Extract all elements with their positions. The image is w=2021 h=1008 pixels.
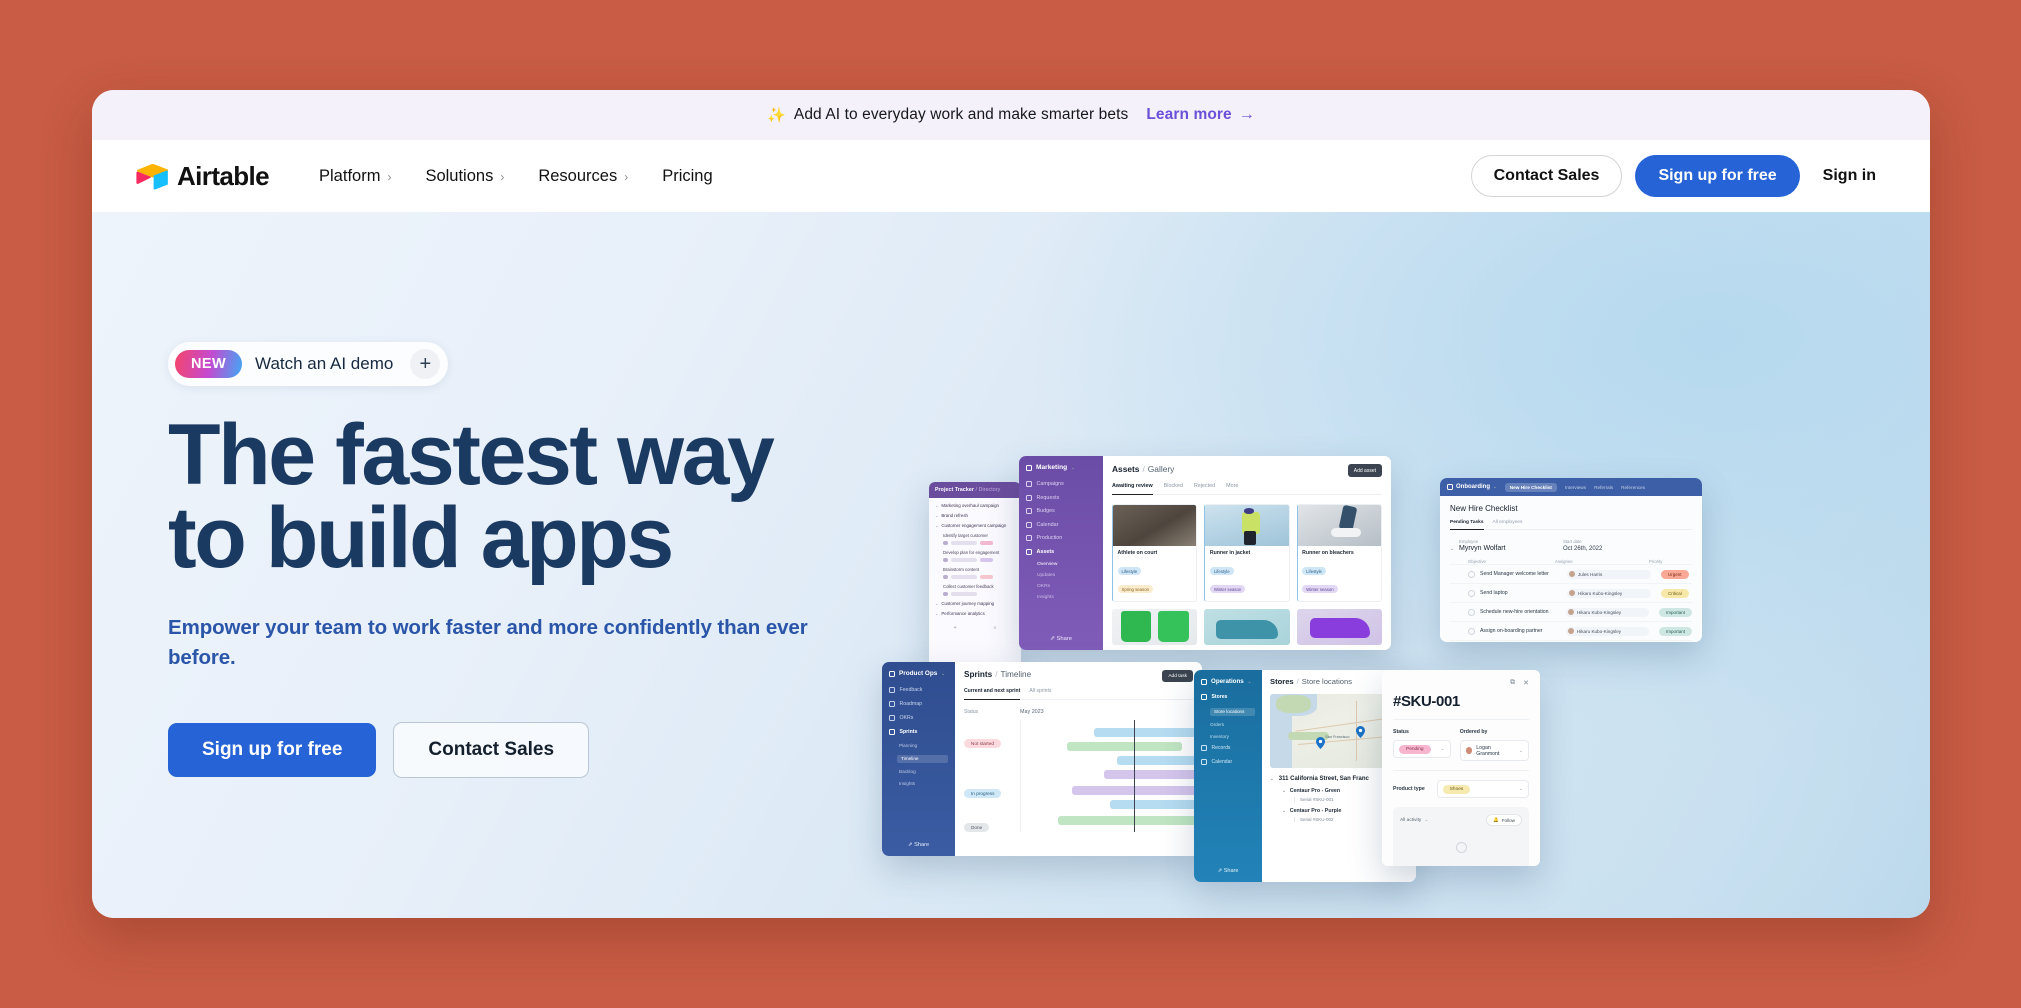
chevron-down-icon: ⌄ — [935, 611, 938, 616]
hero-content: NEW Watch an AI demo + The fastest way t… — [168, 342, 868, 778]
chevron-down-icon: ⌄ — [1441, 746, 1445, 752]
close-icon[interactable]: ✕ — [1523, 679, 1529, 687]
breadcrumb-child: Store locations — [1302, 677, 1352, 686]
marketing-assets-card[interactable]: Marketing⌄ Campaigns Requests Budges Cal… — [1019, 456, 1391, 650]
sidebar-item-calendar[interactable]: Calendar — [1201, 759, 1255, 765]
checkbox[interactable] — [1468, 628, 1475, 635]
onboarding-employee-row[interactable]: ⌄ Myrvyn Wolfart Oct 26th, 2022 — [1450, 545, 1692, 552]
sidebar-subitem-store-locations[interactable]: Store locations — [1210, 708, 1255, 716]
avatar — [1569, 590, 1575, 596]
store-address: 311 California Street, San Franc — [1279, 776, 1369, 782]
chevron-down-icon: ⌄ — [1071, 465, 1075, 471]
product-ops-sidebar: Product Ops⌄ Feedback Roadmap OKRs Sprin… — [882, 662, 955, 856]
task-name: Send laptop — [1480, 590, 1567, 596]
employee-name: Myrvyn Wolfart — [1459, 545, 1563, 552]
operations-app-title[interactable]: Operations⌄ — [1201, 678, 1255, 685]
add-task-button[interactable]: Add task — [1162, 670, 1193, 682]
gantt-bars — [1020, 720, 1193, 832]
avatar — [1466, 747, 1473, 754]
sidebar-subitem-insights[interactable]: Insights — [899, 781, 948, 786]
sidebar-item-label: Assets — [1037, 549, 1055, 555]
tab-references[interactable]: References — [1621, 485, 1645, 490]
page-title: The fastest way to build apps — [168, 414, 868, 581]
nav-item-resources[interactable]: Resources › — [538, 167, 628, 186]
column-header-start-date: Start date — [1563, 539, 1649, 544]
status-badge: Pending — [1399, 745, 1431, 754]
roadmap-icon — [889, 701, 895, 707]
hero-section: NEW Watch an AI demo + The fastest way t… — [92, 212, 1930, 918]
headline-line-1: The fastest way — [168, 407, 772, 503]
product-screenshot-collage: Project Tracker / Directory ⌄Marketing o… — [882, 272, 1930, 912]
table-row[interactable]: Send Manager welcome letterJules HarrisU… — [1450, 564, 1692, 583]
sidebar-item-label: Requests — [1037, 495, 1060, 501]
sidebar-item-label: Sprints — [900, 729, 918, 735]
column-header-assignee: Assignee — [1555, 559, 1649, 564]
gantt-bar[interactable] — [1094, 728, 1202, 737]
records-icon — [1201, 745, 1207, 751]
tracker-subrow-label: Develop plan for engagement — [943, 550, 1015, 555]
share-label: Share — [914, 842, 929, 848]
operations-app-name: Operations — [1211, 678, 1244, 685]
product-ops-app-title[interactable]: Product Ops⌄ — [889, 670, 948, 677]
nav-item-pricing-label: Pricing — [662, 167, 712, 186]
sidebar-item-label: Campaigns — [1037, 481, 1064, 487]
sidebar-item-campaigns[interactable]: Campaigns — [1026, 481, 1096, 487]
avatar — [943, 575, 948, 580]
sidebar-item-label: Calendar — [1212, 759, 1233, 765]
chevron-down-icon[interactable]: ⌄ — [1282, 808, 1286, 814]
search-icon[interactable]: ⌕ — [994, 625, 997, 631]
tracker-subrow-label: Collect customer feedback — [943, 584, 1015, 589]
activity-toolbar: All activity⌄ 🔔Follow — [1400, 814, 1522, 826]
sidebar-subitem-backlog[interactable]: Backlog — [899, 769, 948, 774]
nav-item-platform[interactable]: Platform › — [319, 167, 391, 186]
hero-contact-sales-button[interactable]: Contact Sales — [393, 722, 589, 778]
status-select[interactable]: Pending ⌄ — [1393, 740, 1451, 758]
gantt-bar[interactable] — [1104, 770, 1202, 779]
app-icon — [889, 671, 895, 677]
product-ops-tabs: Current and next sprint All sprints — [964, 688, 1193, 700]
asset-thumbnail — [1298, 505, 1381, 546]
calendar-icon — [1026, 522, 1032, 528]
new-badge: NEW — [175, 350, 242, 378]
watch-ai-demo-pill[interactable]: NEW Watch an AI demo + — [168, 342, 448, 386]
operations-sidebar: Operations⌄ Stores Store locations Order… — [1194, 670, 1262, 882]
asset-thumbnail[interactable] — [1204, 609, 1289, 645]
sidebar-item-okrs[interactable]: OKRs — [889, 715, 948, 721]
assets-icon — [1026, 549, 1032, 555]
chevron-down-icon: ⌄ — [1424, 817, 1428, 823]
sidebar-subitem-timeline[interactable]: Timeline — [897, 755, 948, 763]
asset-tag: Winter season — [1210, 585, 1245, 593]
project-tracker-body: ⌄Marketing overhaul campaign ⌄Brand refr… — [929, 498, 1021, 676]
sidebar-item-label: Stores — [1212, 694, 1228, 700]
nav-actions: Contact Sales Sign up for free Sign in — [1471, 155, 1886, 197]
tab-referrals[interactable]: Referrals — [1594, 485, 1613, 490]
nav-item-pricing[interactable]: Pricing — [662, 167, 712, 186]
task-name: Schedule new-hire orientation — [1480, 609, 1566, 615]
tracker-row-label: Performance analytics — [941, 611, 984, 616]
product-ops-main: Add task Sprints/Timeline Current and ne… — [955, 662, 1202, 856]
activity-filter-label: All activity — [1400, 818, 1421, 823]
sidebar-item-feedback[interactable]: Feedback — [889, 687, 948, 693]
nav-item-solutions-label: Solutions — [425, 167, 493, 186]
tab-blocked[interactable]: Blocked — [1164, 483, 1183, 489]
sidebar-item-label: Records — [1212, 745, 1231, 751]
campaigns-icon — [1026, 481, 1032, 487]
empty-comment-icon — [1456, 842, 1467, 853]
asset-thumbnail[interactable] — [1297, 609, 1382, 645]
marketing-main: Add asset Assets/Gallery Awaiting review… — [1103, 456, 1391, 650]
banner-text: Add AI to everyday work and make smarter… — [794, 106, 1128, 124]
product-type-badge: Shoes — [1443, 785, 1471, 794]
gantt-bar[interactable] — [1058, 816, 1202, 825]
okrs-icon — [889, 715, 895, 721]
gantt-bar[interactable] — [1067, 742, 1182, 751]
add-asset-button[interactable]: Add asset — [1348, 464, 1382, 477]
tab-awaiting-review[interactable]: Awaiting review — [1112, 483, 1153, 495]
onboarding-app-name: Onboarding — [1456, 484, 1490, 490]
assets-grid-row2 — [1112, 609, 1382, 645]
nav-item-solutions[interactable]: Solutions › — [425, 167, 504, 186]
progress-bar — [951, 541, 977, 545]
checkbox[interactable] — [1468, 571, 1475, 578]
sidebar-subitem-updates[interactable]: Updates — [1037, 573, 1096, 578]
sidebar-item-label: Production — [1037, 535, 1063, 541]
tracker-row-label: Marketing overhaul campaign — [941, 503, 999, 508]
sidebar-item-label: Calendar — [1037, 522, 1059, 528]
activity-feed: All activity⌄ 🔔Follow No comments yet Ad… — [1393, 807, 1529, 866]
tab-more[interactable]: More — [1226, 483, 1238, 489]
hero-cta-row: Sign up for free Contact Sales — [168, 722, 868, 778]
assignee-chip[interactable]: Hikaru Kubo-Kingsley — [1567, 589, 1651, 598]
progress-bar — [951, 558, 977, 562]
nav-item-resources-label: Resources — [538, 167, 617, 186]
bell-icon: 🔔 — [1493, 817, 1499, 823]
sku-panel-body: ⧉ ✕ #SKU-001 Status Pending ⌄ — [1382, 670, 1540, 866]
subtab-pending-tasks[interactable]: Pending Tasks — [1450, 520, 1484, 530]
airtable-logo[interactable]: Airtable — [136, 161, 269, 192]
tracker-row-label: Customer engagement campaign — [941, 523, 1006, 528]
map-city-label: San Francisco — [1325, 735, 1349, 739]
production-icon — [1026, 535, 1032, 541]
tracker-subrow[interactable]: Collect customer feedback — [943, 584, 1015, 596]
sku-fields: Status Pending ⌄ Ordered by Logan Granmo… — [1393, 729, 1529, 761]
project-tracker-card[interactable]: Project Tracker / Directory ⌄Marketing o… — [929, 482, 1021, 676]
sidebar-item-sprints[interactable]: Sprints — [889, 729, 948, 735]
sidebar-item-records[interactable]: Records — [1201, 745, 1255, 751]
table-row[interactable]: Send gift basketPat EverettImportant — [1450, 640, 1692, 642]
marketing-app-title[interactable]: Marketing⌄ — [1026, 464, 1096, 471]
product-ops-card[interactable]: Product Ops⌄ Feedback Roadmap OKRs Sprin… — [882, 662, 1202, 856]
activity-empty-state: No comments yet — [1400, 826, 1522, 866]
browser-page-frame: ✨ Add AI to everyday work and make smart… — [92, 90, 1930, 918]
sign-in-button[interactable]: Sign in — [1813, 156, 1886, 196]
tab-interviews[interactable]: Interviews — [1565, 485, 1586, 490]
sidebar-item-production[interactable]: Production — [1026, 535, 1096, 541]
marketing-app-name: Marketing — [1036, 464, 1067, 471]
tracker-row[interactable]: ⌄Customer engagement campaign — [935, 523, 1015, 528]
priority-badge: Important — [1659, 627, 1692, 636]
onboarding-app-title[interactable]: Onboarding⌄ — [1447, 484, 1497, 490]
chevron-down-icon: ⌄ — [935, 503, 938, 508]
onboarding-subtabs: Pending Tasks All employees — [1450, 520, 1692, 530]
timeline-month: May 2023 — [1020, 709, 1044, 715]
subtab-all-employees[interactable]: All employees — [1493, 520, 1523, 525]
app-icon — [1447, 484, 1453, 490]
tracker-row[interactable]: ⌄Performance analytics — [935, 611, 1015, 616]
chevron-down-icon: ⌄ — [941, 671, 945, 677]
asset-tag: Spring season — [1118, 585, 1153, 593]
sidebar-subitem-overview[interactable]: Overview — [1037, 562, 1096, 567]
onboarding-employee-columns: Employee Start date — [1450, 539, 1692, 544]
task-name: Assign on-boarding partner — [1480, 628, 1566, 634]
avatar — [943, 592, 948, 597]
chevron-down-icon: ⌄ — [1519, 748, 1523, 754]
map-park — [1276, 695, 1312, 713]
chevron-down-icon[interactable]: ⌄ — [1450, 546, 1459, 552]
sku-detail-panel[interactable]: ⧉ ✕ #SKU-001 Status Pending ⌄ — [1382, 670, 1540, 866]
breadcrumb-parent[interactable]: Stores — [1270, 677, 1294, 686]
status-badge — [980, 541, 993, 545]
sidebar-subitem-okrs[interactable]: OKRs — [1037, 584, 1096, 589]
divider — [1393, 770, 1529, 771]
avatar — [1569, 571, 1575, 577]
requests-icon — [1026, 495, 1032, 501]
onboarding-title: New Hire Checklist — [1450, 504, 1692, 513]
map-water — [1270, 713, 1292, 768]
employee-start-date: Oct 26th, 2022 — [1563, 546, 1602, 552]
status-badge — [980, 558, 993, 562]
onboarding-header: Onboarding⌄ New Hire Checklist Interview… — [1440, 478, 1702, 496]
asset-thumbnail[interactable] — [1112, 609, 1197, 645]
status-badge: In progress — [964, 789, 1001, 798]
chevron-down-icon: ⌄ — [935, 513, 938, 518]
banner-link-label: Learn more — [1146, 106, 1231, 124]
breadcrumb: Sprints/Timeline — [964, 670, 1193, 679]
project-tracker-section: Directory — [979, 487, 1001, 493]
sidebar-item-stores[interactable]: Stores — [1201, 694, 1255, 700]
tracker-subrow-label: Identify target customer — [943, 533, 1015, 538]
breadcrumb-parent[interactable]: Assets — [1112, 464, 1139, 474]
chevron-down-icon: ⌄ — [1248, 679, 1252, 685]
activity-filter[interactable]: All activity⌄ — [1400, 817, 1429, 823]
follow-button[interactable]: 🔔Follow — [1486, 814, 1522, 826]
divider — [1393, 719, 1529, 720]
sidebar-subitem-insights[interactable]: Insights — [1037, 595, 1096, 600]
asset-name: Athlete on court — [1118, 550, 1192, 556]
sidebar-subitem-planning[interactable]: Planning — [899, 743, 948, 748]
asset-tag: Winter season — [1302, 585, 1337, 593]
tracker-subrow[interactable]: Brainstorm content — [943, 567, 1015, 579]
chevron-right-icon: › — [624, 170, 628, 184]
airtable-logo-text: Airtable — [177, 161, 269, 192]
avatar — [943, 541, 948, 546]
onboarding-card[interactable]: Onboarding⌄ New Hire Checklist Interview… — [1440, 478, 1702, 642]
plus-icon[interactable]: + — [410, 349, 440, 379]
share-label: Share — [1224, 868, 1239, 874]
column-header-employee: Employee — [1459, 539, 1563, 544]
share-label: Share — [1057, 636, 1072, 642]
asset-thumbnail — [1113, 505, 1196, 546]
tracker-subrow[interactable]: Identify target customer — [943, 533, 1015, 545]
sidebar-item-label: Feedback — [900, 687, 923, 693]
project-tracker-title: Project Tracker — [935, 487, 974, 493]
sprints-icon — [889, 729, 895, 735]
sku-title: #SKU-001 — [1393, 693, 1529, 710]
sidebar-subitem-orders[interactable]: Orders — [1210, 722, 1255, 727]
tracker-row-label: Brand refresh — [941, 513, 968, 518]
breadcrumb-child: Timeline — [1001, 670, 1032, 679]
column-header-status: Status — [964, 709, 1020, 715]
announcement-banner: ✨ Add AI to everyday work and make smart… — [92, 90, 1930, 140]
asset-name: Runner in jacket — [1210, 550, 1284, 556]
assignee-chip[interactable]: Hikaru Kubo-Kingsley — [1566, 608, 1649, 617]
table-row[interactable]: Send laptopHikaru Kubo-KingsleyCritical — [1450, 583, 1692, 602]
gantt-chart: Not started In progress Done — [964, 720, 1193, 832]
chevron-down-icon: ⌄ — [1493, 484, 1497, 490]
tracker-subrow-label: Brainstorm content — [943, 567, 1015, 572]
ordered-by-select[interactable]: Logan Granmont ⌄ — [1460, 740, 1529, 761]
ordered-by-value: Logan Granmont — [1476, 745, 1513, 757]
tab-new-hire-checklist[interactable]: New Hire Checklist — [1505, 483, 1557, 492]
timeline-month-label: May — [1020, 709, 1030, 715]
avatar — [943, 558, 948, 563]
sidebar-item-label: OKRs — [900, 715, 914, 721]
sidebar-item-assets[interactable]: Assets — [1026, 549, 1096, 555]
airtable-logo-icon — [136, 163, 168, 190]
priority-badge: Important — [1659, 608, 1692, 617]
onboarding-task-columns: Objective Assignee Priority — [1450, 559, 1692, 564]
product-type-select[interactable]: Shoes ⌄ — [1437, 780, 1529, 798]
gantt-bar[interactable] — [1072, 786, 1202, 795]
breadcrumb: Assets/Gallery — [1112, 464, 1382, 474]
tracker-row[interactable]: ⌄Marketing overhaul campaign — [935, 503, 1015, 508]
chevron-down-icon: ⌄ — [935, 601, 938, 606]
tracker-subrow[interactable]: Develop plan for engagement — [943, 550, 1015, 562]
asset-tag: Lifestyle — [1302, 567, 1326, 575]
chevron-right-icon: › — [500, 170, 504, 184]
column-header-priority: Priority — [1649, 559, 1662, 564]
avatar — [1568, 628, 1574, 634]
add-icon[interactable]: + — [954, 625, 957, 631]
tracker-row[interactable]: ⌄Customer journey mapping — [935, 601, 1015, 606]
assignee-name: Hikaru Kubo-Kingsley — [1578, 591, 1622, 596]
checkbox[interactable] — [1468, 609, 1475, 616]
banner-learn-more-link[interactable]: Learn more → — [1146, 106, 1255, 124]
gantt-bar[interactable] — [1117, 756, 1202, 765]
expand-icon[interactable]: ⧉ — [1510, 679, 1515, 687]
sparkle-icon: ✨ — [767, 108, 786, 123]
share-button[interactable]: ⇗ Share — [1019, 636, 1103, 642]
tab-all-sprints[interactable]: All sprints — [1029, 688, 1051, 694]
contact-sales-button[interactable]: Contact Sales — [1471, 155, 1623, 197]
status-badge: Done — [964, 823, 989, 832]
column-header-objective: Objective — [1468, 559, 1555, 564]
project-tracker-header: Project Tracker / Directory — [929, 482, 1021, 498]
map-road — [1295, 717, 1391, 731]
progress-bar — [951, 592, 977, 596]
today-marker — [1134, 720, 1135, 832]
tracker-row-label: Customer journey mapping — [941, 601, 994, 606]
main-navigation: Airtable Platform › Solutions › Resource… — [92, 140, 1930, 212]
product-name: Centaur Pro - Purple — [1290, 808, 1342, 814]
watch-ai-demo-label: Watch an AI demo — [255, 354, 393, 374]
timeline-year-label: 2023 — [1032, 709, 1044, 715]
checkbox[interactable] — [1468, 590, 1475, 597]
sidebar-item-budges[interactable]: Budges — [1026, 508, 1096, 514]
gantt-bar[interactable] — [1110, 800, 1202, 809]
asset-thumbnail — [1205, 505, 1288, 546]
sidebar-item-calendar[interactable]: Calendar — [1026, 522, 1096, 528]
assignee-chip[interactable]: Hikaru Kubo-Kingsley — [1566, 627, 1649, 636]
status-badge: Not started — [964, 739, 1001, 748]
chevron-down-icon: ⌄ — [935, 523, 938, 528]
tracker-footer: +⌕ — [935, 621, 1015, 631]
avatar — [1568, 609, 1574, 615]
asset-tag: Lifestyle — [1118, 567, 1142, 575]
priority-badge: Urgent — [1661, 570, 1689, 579]
nav-item-platform-label: Platform — [319, 167, 380, 186]
asset-card[interactable]: Athlete on court Lifestyle Spring season — [1112, 504, 1197, 602]
share-button[interactable]: ⇗ Share — [1194, 868, 1262, 874]
follow-label: Follow — [1502, 818, 1515, 823]
hero-sign-up-button[interactable]: Sign up for free — [168, 723, 376, 777]
table-row[interactable]: Assign on-boarding partnerHikaru Kubo-Ki… — [1450, 621, 1692, 640]
assets-grid: Athlete on court Lifestyle Spring season — [1112, 504, 1382, 602]
task-name: Send Manager welcome letter — [1480, 571, 1567, 577]
table-row[interactable]: Schedule new-hire orientationHikaru Kubo… — [1450, 602, 1692, 621]
marketing-sidebar: Marketing⌄ Campaigns Requests Budges Cal… — [1019, 456, 1103, 650]
assignee-name: Hikaru Kubo-Kingsley — [1577, 629, 1621, 634]
tab-rejected[interactable]: Rejected — [1194, 483, 1215, 489]
product-type-row: Product type Shoes ⌄ — [1393, 780, 1529, 798]
chevron-down-icon[interactable]: ⌄ — [1282, 788, 1286, 794]
sku-panel-actions: ⧉ ✕ — [1393, 679, 1529, 687]
map-pin-icon[interactable] — [1356, 726, 1365, 738]
hero-subheading: Empower your team to work faster and mor… — [168, 613, 808, 672]
asset-card[interactable]: Runner in jacket Lifestyle Winter season — [1204, 504, 1289, 602]
asset-card[interactable]: Runner on bleachers Lifestyle Winter sea… — [1297, 504, 1382, 602]
tab-current-next-sprint[interactable]: Current and next sprint — [964, 688, 1020, 700]
app-icon — [1201, 679, 1207, 685]
asset-name: Runner on bleachers — [1302, 550, 1376, 556]
status-field-label: Status — [1393, 729, 1451, 735]
progress-bar — [951, 575, 977, 579]
sidebar-subitem-inventory[interactable]: Inventory — [1210, 734, 1255, 739]
sidebar-item-requests[interactable]: Requests — [1026, 495, 1096, 501]
marketing-tabs: Awaiting review Blocked Rejected More — [1112, 483, 1382, 495]
assignee-name: Jules Harris — [1578, 572, 1602, 577]
breadcrumb-child: Gallery — [1148, 464, 1175, 474]
calendar-icon — [1201, 759, 1207, 765]
sidebar-item-roadmap[interactable]: Roadmap — [889, 701, 948, 707]
chevron-down-icon: ⌄ — [1519, 786, 1523, 792]
priority-badge: Critical — [1661, 589, 1689, 598]
share-button[interactable]: ⇗ Share — [882, 842, 955, 848]
breadcrumb-parent[interactable]: Sprints — [964, 670, 992, 679]
sign-up-button[interactable]: Sign up for free — [1635, 155, 1799, 197]
chevron-right-icon: › — [387, 170, 391, 184]
chevron-down-icon[interactable]: ⌄ — [1270, 776, 1274, 782]
status-badge — [980, 575, 993, 579]
onboarding-body: New Hire Checklist Pending Tasks All emp… — [1440, 496, 1702, 642]
map-pin-icon[interactable] — [1316, 737, 1325, 749]
assignee-chip[interactable]: Jules Harris — [1567, 570, 1651, 579]
sidebar-item-label: Roadmap — [900, 701, 923, 707]
tracker-row[interactable]: ⌄Brand refresh — [935, 513, 1015, 518]
ordered-by-field-label: Ordered by — [1460, 729, 1529, 735]
